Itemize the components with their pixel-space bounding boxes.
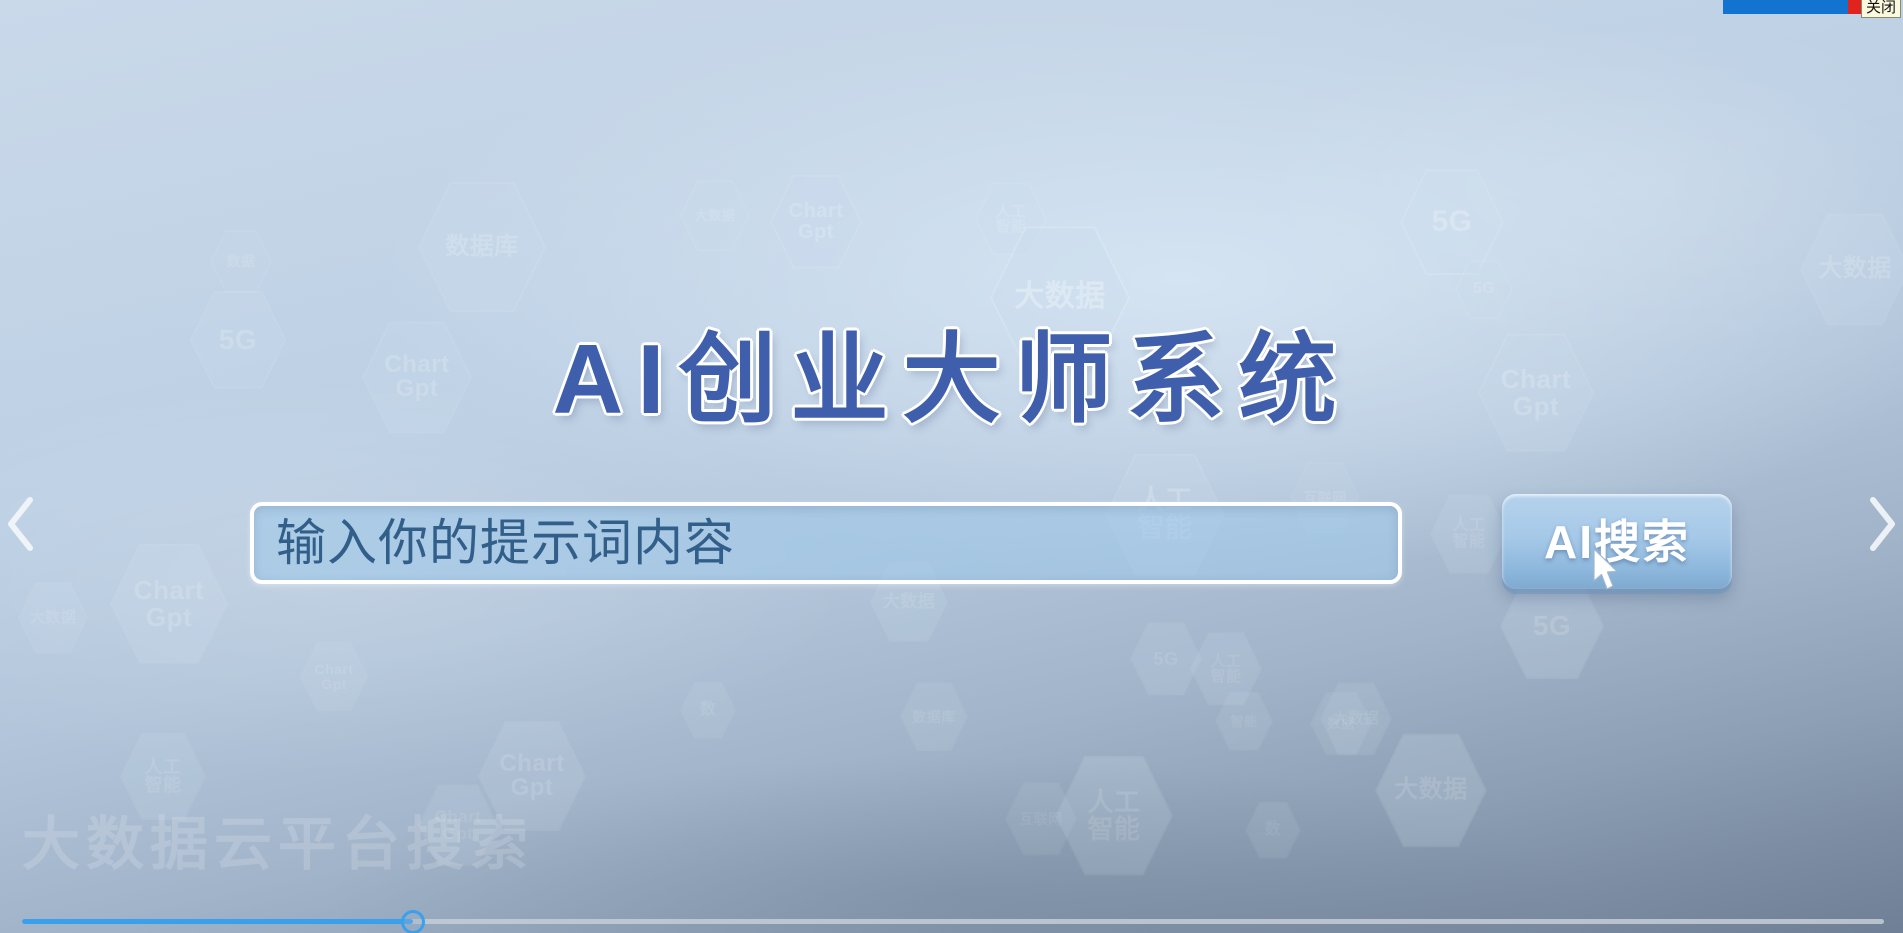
carousel-prev-button[interactable] <box>0 488 44 560</box>
ai-search-button[interactable]: AI搜索 <box>1502 494 1732 589</box>
page-title: AI创业大师系统 <box>0 330 1903 428</box>
chevron-left-icon <box>6 496 36 552</box>
bottom-slider[interactable] <box>22 912 1884 930</box>
slider-fill <box>22 919 413 924</box>
window-titlebar-accent <box>1723 0 1848 14</box>
carousel-next-button[interactable] <box>1859 488 1903 560</box>
app-root: 数据库大数据Chart Gpt人工 智能大数据5G5G大数据数据5GChart … <box>0 0 1903 933</box>
search-row: 输入你的提示词内容 AI搜索 <box>0 502 1903 602</box>
chevron-right-icon <box>1867 496 1897 552</box>
slider-handle[interactable] <box>401 910 425 933</box>
ai-search-button-label: AI搜索 <box>1544 519 1690 565</box>
search-input[interactable]: 输入你的提示词内容 <box>250 502 1402 584</box>
search-input-placeholder: 输入你的提示词内容 <box>276 518 735 568</box>
background-gradient <box>0 0 1903 933</box>
close-tooltip: 关闭 <box>1861 0 1901 18</box>
